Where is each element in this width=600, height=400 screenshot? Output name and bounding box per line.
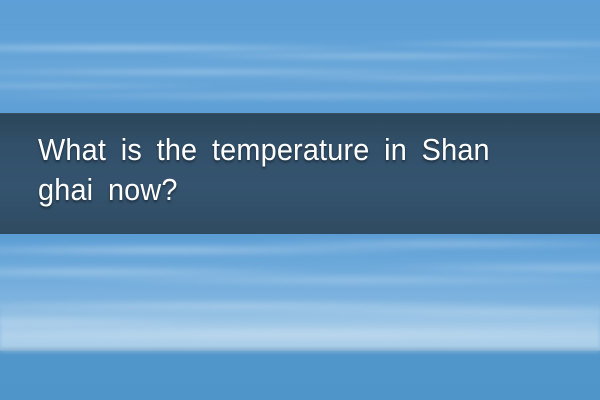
horizon-line (0, 348, 600, 352)
screenshot-root: What is the temperature in Shan ghai now… (0, 0, 600, 400)
caption-text: What is the temperature in Shan ghai now… (38, 130, 538, 210)
horizon-haze (0, 300, 600, 352)
caption-banner: What is the temperature in Shan ghai now… (0, 113, 600, 234)
